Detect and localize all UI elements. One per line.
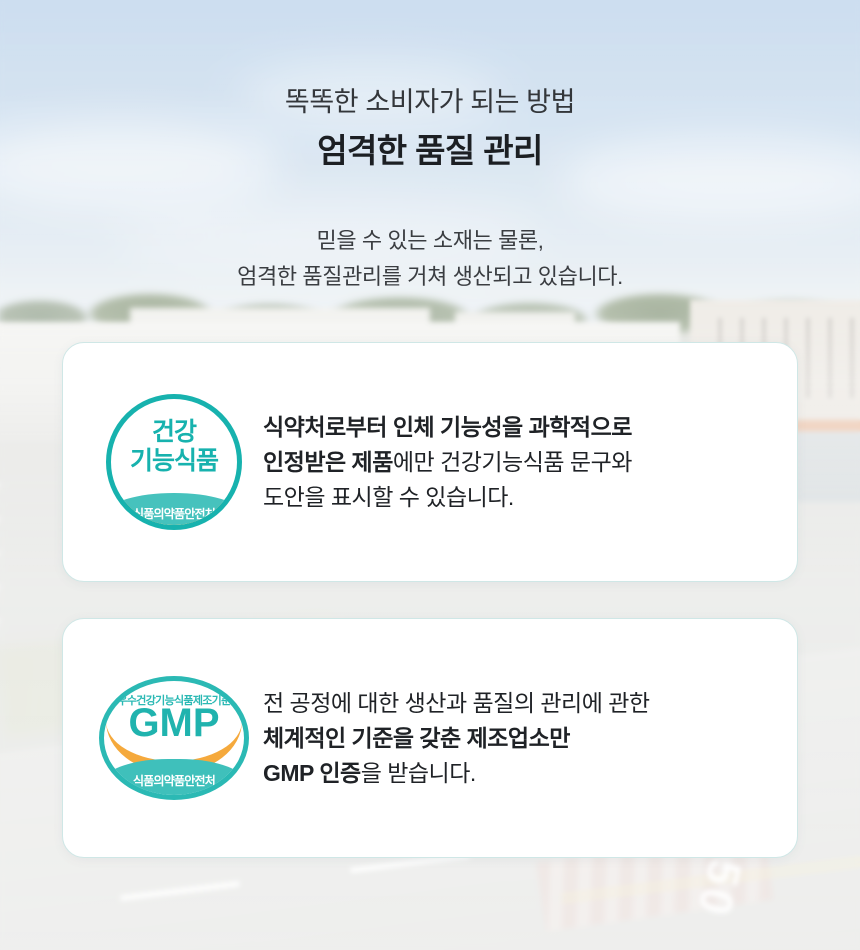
card-badge-slot: 우수건강기능식품제조기준 GMP 식품의약품안전처 (85, 676, 263, 800)
card-text-bold: 식약처로부터 인체 기능성을 과학적으로 (263, 414, 632, 440)
card-text-bold: 체계적인 기준을 갖춘 제조업소만 (263, 725, 570, 751)
subtitle-line-2: 엄격한 품질관리를 거쳐 생산되고 있습니다. (0, 259, 860, 295)
gmp-seal-icon: 우수건강기능식품제조기준 GMP 식품의약품안전처 (99, 676, 249, 800)
card-text-bold: GMP 인증 (263, 760, 361, 786)
card-body-text: 식약처로부터 인체 기능성을 과학적으로 인정받은 제품에만 건강기능식품 문구… (263, 410, 769, 515)
seal-authority-label: 식품의약품안전처 (133, 772, 215, 789)
card-badge-slot: 건강 기능식품 식품의약품안전처 (85, 394, 263, 530)
certification-card-list: 건강 기능식품 식품의약품안전처 식약처로부터 인체 기능성을 과학적으로 인정… (0, 342, 860, 858)
card-text-line-1: 전 공정에 대한 생산과 품질의 관리에 관한 (263, 686, 763, 721)
card-text-regular: 전 공정에 대한 생산과 품질의 관리에 관한 (263, 690, 650, 716)
card-text-line-2: 인정받은 제품에만 건강기능식품 문구와 (263, 445, 763, 480)
page-header: 똑똑한 소비자가 되는 방법 엄격한 품질 관리 (0, 0, 860, 171)
card-text-regular: 에만 건강기능식품 문구와 (393, 449, 632, 475)
gmp-main-label: GMP (104, 703, 244, 743)
card-text-line-3: 도안을 표시할 수 있습니다. (263, 480, 763, 515)
page-title: 엄격한 품질 관리 (0, 130, 860, 171)
seal-authority-band: 식품의약품안전처 (100, 759, 248, 797)
card-text-line-2: 체계적인 기준을 갖춘 제조업소만 (263, 721, 763, 756)
seal-authority-label: 식품의약품안전처 (133, 505, 215, 522)
header-eyebrow: 똑똑한 소비자가 되는 방법 (0, 86, 860, 120)
card-text-bold: 인정받은 제품 (263, 449, 393, 475)
card-text-regular: 도안을 표시할 수 있습니다. (263, 484, 514, 510)
health-functional-food-seal-icon: 건강 기능식품 식품의약품안전처 (106, 394, 242, 530)
certification-card-gmp: 우수건강기능식품제조기준 GMP 식품의약품안전처 전 공정에 대한 생산과 품… (62, 618, 798, 858)
subtitle-block: 믿을 수 있는 소재는 물론, 엄격한 품질관리를 거쳐 생산되고 있습니다. (0, 223, 860, 294)
card-text-line-3: GMP 인증을 받습니다. (263, 756, 763, 791)
card-body-text: 전 공정에 대한 생산과 품질의 관리에 관한 체계적인 기준을 갖춘 제조업소… (263, 686, 769, 791)
seal-text-line-1: 건강 (111, 419, 237, 446)
card-text-regular: 을 받습니다. (361, 760, 476, 786)
card-text-line-1: 식약처로부터 인체 기능성을 과학적으로 (263, 410, 763, 445)
seal-text-line-2: 기능식품 (111, 448, 237, 475)
certification-card-health-functional-food: 건강 기능식품 식품의약품안전처 식약처로부터 인체 기능성을 과학적으로 인정… (62, 342, 798, 582)
subtitle-line-1: 믿을 수 있는 소재는 물론, (0, 223, 860, 259)
seal-text: 건강 기능식품 (111, 419, 237, 475)
seal-authority-band: 식품의약품안전처 (107, 493, 241, 527)
page-root: 똑똑한 소비자가 되는 방법 엄격한 품질 관리 믿을 수 있는 소재는 물론,… (0, 0, 860, 950)
